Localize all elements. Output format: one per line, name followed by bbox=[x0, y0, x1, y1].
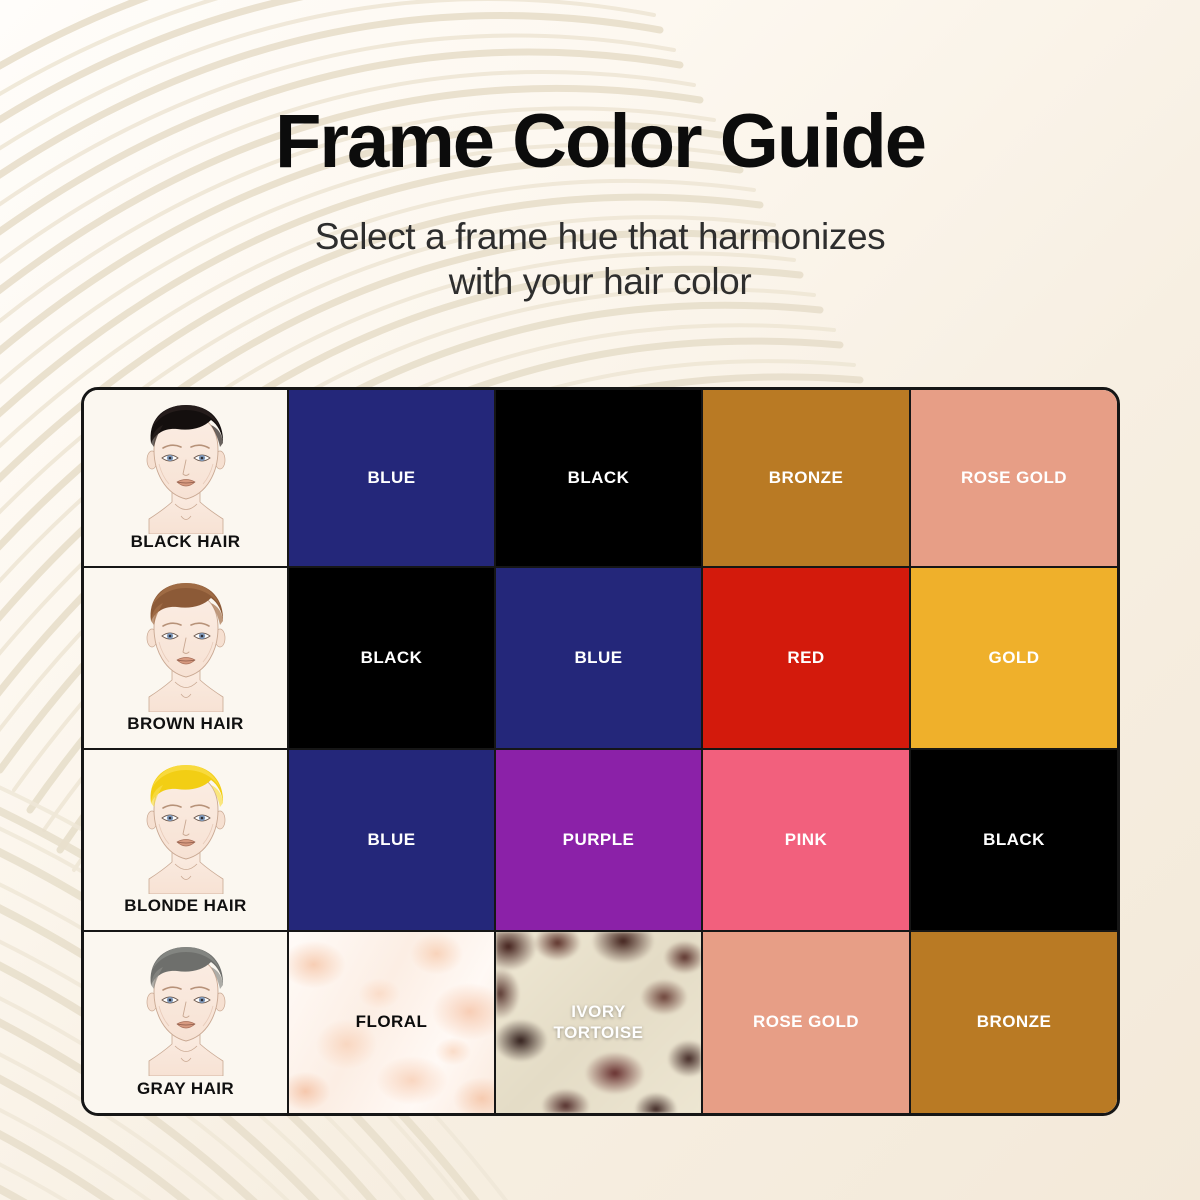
swatch-label: BLACK bbox=[355, 648, 429, 669]
swatch-cell-pink[interactable]: PINK bbox=[703, 750, 911, 932]
swatch-label: IVORYTORTOISE bbox=[548, 1002, 650, 1043]
swatch-cell-rose-gold[interactable]: ROSE GOLD bbox=[911, 390, 1117, 568]
swatch-cell-blue[interactable]: BLUE bbox=[496, 568, 703, 750]
hair-type-cell-gray-hair: GRAY HAIR bbox=[84, 932, 289, 1113]
color-guide-table: BLACK HAIRBLUEBLACKBRONZEROSE GOLD bbox=[81, 387, 1120, 1116]
swatch-label: PURPLE bbox=[557, 830, 641, 851]
swatch-cell-bronze[interactable]: BRONZE bbox=[911, 932, 1117, 1113]
subtitle-line-1: Select a frame hue that harmonizes bbox=[0, 214, 1200, 259]
hair-type-cell-blonde-hair: BLONDE HAIR bbox=[84, 750, 289, 932]
subtitle-line-2: with your hair color bbox=[0, 259, 1200, 304]
swatch-label: ROSE GOLD bbox=[955, 468, 1073, 489]
hair-type-label: GRAY HAIR bbox=[84, 1079, 287, 1099]
hair-type-label: BROWN HAIR bbox=[84, 714, 287, 734]
hair-type-label: BLACK HAIR bbox=[84, 532, 287, 552]
swatch-label: BRONZE bbox=[763, 468, 849, 489]
female-face-icon bbox=[123, 940, 249, 1076]
swatch-label: BLUE bbox=[361, 830, 421, 851]
swatch-cell-purple[interactable]: PURPLE bbox=[496, 750, 703, 932]
swatch-cell-bronze[interactable]: BRONZE bbox=[703, 390, 911, 568]
swatch-label: BLACK bbox=[977, 830, 1051, 851]
swatch-label: FLORAL bbox=[350, 1012, 434, 1033]
swatch-cell-blue[interactable]: BLUE bbox=[289, 390, 496, 568]
swatch-cell-black[interactable]: BLACK bbox=[911, 750, 1117, 932]
swatch-cell-red[interactable]: RED bbox=[703, 568, 911, 750]
female-face-icon bbox=[123, 576, 249, 712]
page-header: Frame Color Guide Select a frame hue tha… bbox=[0, 0, 1200, 304]
hair-type-label: BLONDE HAIR bbox=[84, 896, 287, 916]
page-title: Frame Color Guide bbox=[0, 104, 1200, 180]
swatch-cell-floral[interactable]: FLORAL bbox=[289, 932, 496, 1113]
swatch-label: BLUE bbox=[361, 468, 421, 489]
swatch-label: GOLD bbox=[983, 648, 1046, 669]
page-subtitle: Select a frame hue that harmonizes with … bbox=[0, 214, 1200, 304]
swatch-label: PINK bbox=[779, 830, 833, 851]
swatch-cell-blue[interactable]: BLUE bbox=[289, 750, 496, 932]
swatch-cell-ivory-tortoise[interactable]: IVORYTORTOISE bbox=[496, 932, 703, 1113]
swatch-cell-black[interactable]: BLACK bbox=[289, 568, 496, 750]
hair-type-cell-brown-hair: BROWN HAIR bbox=[84, 568, 289, 750]
swatch-label: ROSE GOLD bbox=[747, 1012, 865, 1033]
swatch-cell-gold[interactable]: GOLD bbox=[911, 568, 1117, 750]
female-face-icon bbox=[123, 758, 249, 894]
swatch-cell-black[interactable]: BLACK bbox=[496, 390, 703, 568]
swatch-label: RED bbox=[781, 648, 830, 669]
color-guide-grid: BLACK HAIRBLUEBLACKBRONZEROSE GOLD bbox=[84, 390, 1117, 1113]
hair-type-cell-black-hair: BLACK HAIR bbox=[84, 390, 289, 568]
swatch-cell-rose-gold[interactable]: ROSE GOLD bbox=[703, 932, 911, 1113]
swatch-label: BLUE bbox=[568, 648, 628, 669]
female-face-icon bbox=[123, 398, 249, 534]
swatch-label: BLACK bbox=[562, 468, 636, 489]
swatch-label: BRONZE bbox=[971, 1012, 1057, 1033]
